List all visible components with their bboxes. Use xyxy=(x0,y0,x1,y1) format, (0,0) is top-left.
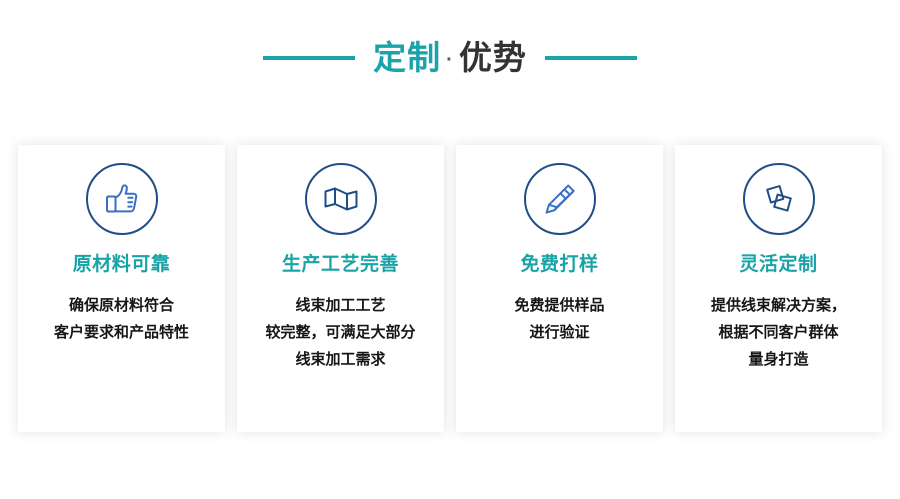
feature-card-body: 线束加工工艺 较完整，可满足大部分 线束加工需求 xyxy=(246,292,436,373)
feature-card-heading: 原材料可靠 xyxy=(73,255,171,274)
feature-card-heading: 生产工艺完善 xyxy=(282,255,399,274)
feature-card-body: 免费提供样品 进行验证 xyxy=(465,292,655,346)
feature-card[interactable]: 生产工艺完善 线束加工工艺 较完整，可满足大部分 线束加工需求 xyxy=(237,145,444,432)
feature-card-heading: 免费打样 xyxy=(520,255,598,274)
feature-card-heading: 灵活定制 xyxy=(739,255,817,274)
feature-card-body-line: 线束加工需求 xyxy=(246,346,436,373)
page-title-separator: · xyxy=(446,50,454,70)
page-title-accent: 定制 xyxy=(373,41,441,74)
pencil-icon xyxy=(524,163,596,235)
feature-card-body-line: 免费提供样品 xyxy=(465,292,655,319)
feature-card-body-line: 较完整，可满足大部分 xyxy=(246,319,436,346)
page-title: 定制 · 优势 xyxy=(373,41,527,74)
page-title-main: 优势 xyxy=(459,41,527,74)
title-rule-right xyxy=(545,56,637,60)
feature-card-body-line: 进行验证 xyxy=(465,319,655,346)
stacked-sheets-icon xyxy=(743,163,815,235)
feature-card-body: 提供线束解决方案， 根据不同客户群体 量身打造 xyxy=(684,292,874,373)
title-rule-left xyxy=(263,56,355,60)
feature-card-list: 原材料可靠 确保原材料符合 客户要求和产品特性 生产工艺完善 线束加工工艺 较完… xyxy=(18,145,882,432)
section-header: 定制 · 优势 xyxy=(0,0,900,115)
feature-card-body-line: 量身打造 xyxy=(684,346,874,373)
feature-card[interactable]: 免费打样 免费提供样品 进行验证 xyxy=(456,145,663,432)
feature-card-body: 确保原材料符合 客户要求和产品特性 xyxy=(27,292,217,346)
feature-card[interactable]: 灵活定制 提供线束解决方案， 根据不同客户群体 量身打造 xyxy=(675,145,882,432)
thumbs-up-icon xyxy=(86,163,158,235)
folded-map-icon xyxy=(305,163,377,235)
feature-card-body-line: 提供线束解决方案， xyxy=(684,292,874,319)
feature-card-body-line: 客户要求和产品特性 xyxy=(27,319,217,346)
feature-card[interactable]: 原材料可靠 确保原材料符合 客户要求和产品特性 xyxy=(18,145,225,432)
feature-card-body-line: 根据不同客户群体 xyxy=(684,319,874,346)
feature-card-body-line: 线束加工工艺 xyxy=(246,292,436,319)
feature-card-body-line: 确保原材料符合 xyxy=(27,292,217,319)
